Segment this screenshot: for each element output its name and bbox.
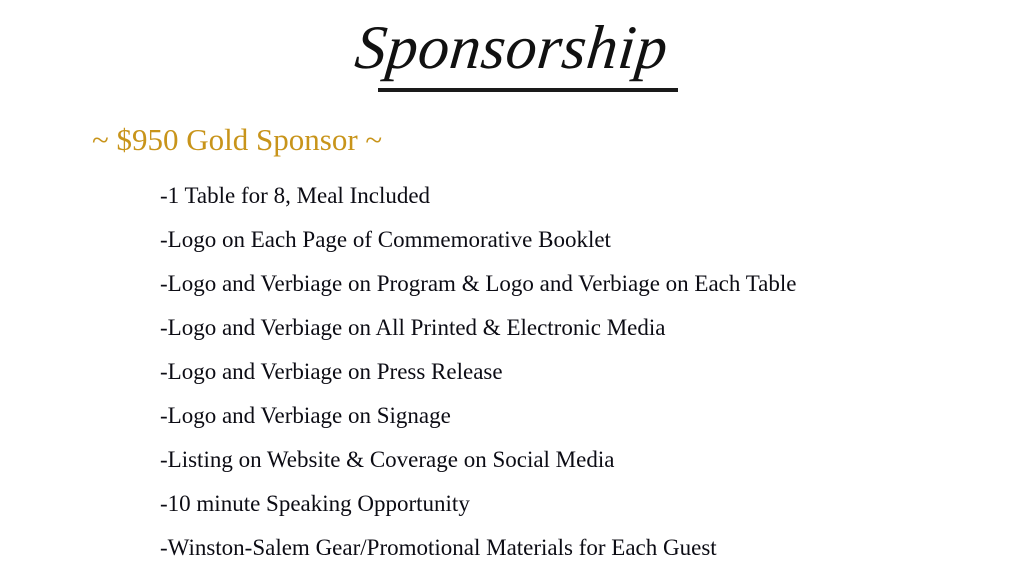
title-block: Sponsorship [0, 14, 1023, 93]
sponsorship-slide: Sponsorship ~ $950 Gold Sponsor ~ -1 Tab… [0, 0, 1023, 587]
list-item: -Logo and Verbiage on Program & Logo and… [160, 261, 1010, 305]
list-item: -Logo and Verbiage on Signage [160, 393, 1010, 437]
list-item: -Listing on Website & Coverage on Social… [160, 437, 1010, 481]
sponsor-tier-heading: ~ $950 Gold Sponsor ~ [92, 121, 382, 160]
list-item: -1 Table for 8, Meal Included [160, 173, 1010, 217]
sponsor-benefits-list: -1 Table for 8, Meal Included -Logo on E… [160, 173, 1010, 569]
list-item: -Logo on Each Page of Commemorative Book… [160, 217, 1010, 261]
title-underline-rule [378, 88, 678, 92]
list-item: -10 minute Speaking Opportunity [160, 481, 1010, 525]
list-item: -Logo and Verbiage on Press Release [160, 349, 1010, 393]
page-title: Sponsorship [345, 14, 677, 93]
list-item: -Logo and Verbiage on All Printed & Elec… [160, 305, 1010, 349]
list-item: -Winston-Salem Gear/Promotional Material… [160, 525, 1010, 569]
